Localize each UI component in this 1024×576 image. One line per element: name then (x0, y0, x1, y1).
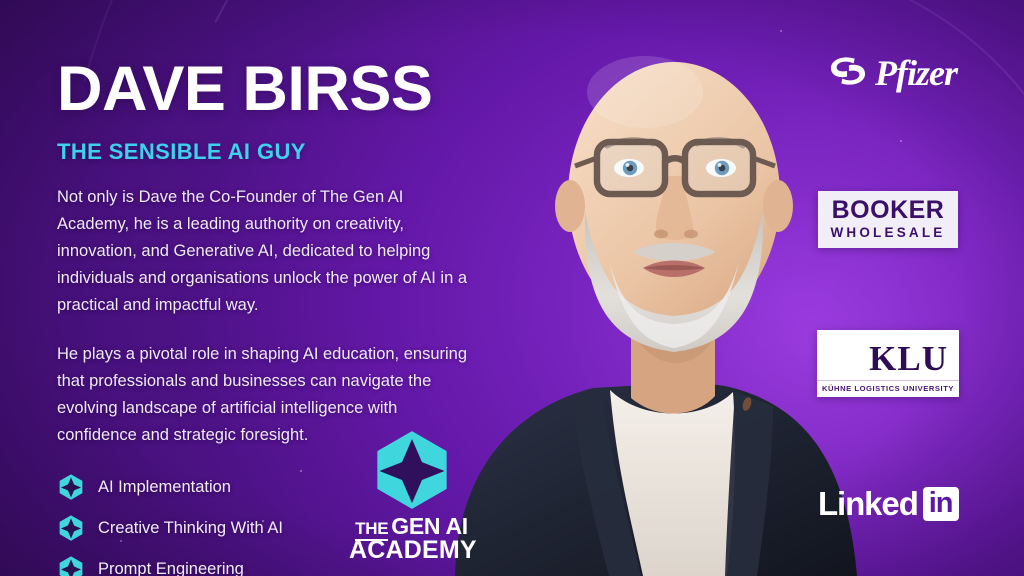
linkedin-badge-icon: in (923, 487, 959, 521)
booker-line-2: WHOLESALE (827, 226, 949, 240)
linkedin-wordmark: Linked (818, 485, 918, 523)
academy-wordmark: THEGEN AI ACADEMY (349, 515, 474, 564)
klu-mark: KLU (817, 330, 959, 380)
klu-wordmark: KLU (869, 339, 948, 378)
klu-subtitle: KÜHNE LOGISTICS UNIVERSITY (817, 380, 959, 397)
list-item-label: Creative Thinking With AI (98, 519, 283, 538)
hexagon-star-icon (57, 514, 85, 542)
gen-ai-academy-logo: THEGEN AI ACADEMY (349, 428, 474, 564)
logo-klu: KLU KÜHNE LOGISTICS UNIVERSITY (817, 330, 959, 397)
hexagon-star-icon (57, 473, 85, 501)
academy-genai-text: GEN AI (391, 513, 468, 539)
academy-academy-text: ACADEMY (349, 538, 474, 564)
hexagon-star-icon (57, 555, 85, 576)
pfizer-wordmark: Pfizer (875, 52, 957, 94)
academy-hexagon-star-icon (370, 428, 454, 512)
bio-paragraph-1: Not only is Dave the Co-Founder of The G… (57, 184, 477, 318)
list-item-label: AI Implementation (98, 478, 231, 497)
linkedin-in-text: in (929, 487, 953, 519)
list-item-label: Prompt Engineering (98, 560, 244, 576)
logo-pfizer: Pfizer (826, 52, 957, 94)
subtitle: THE SENSIBLE AI GUY (57, 139, 527, 165)
client-logo-rail: Pfizer BOOKER WHOLESALE KLU KÜHNE LOGIST… (804, 0, 1024, 576)
presentation-slide: DAVE BIRSS THE SENSIBLE AI GUY Not only … (0, 0, 1024, 576)
page-title: DAVE BIRSS (57, 58, 527, 121)
booker-line-1: BOOKER (827, 198, 949, 223)
logo-booker-wholesale: BOOKER WHOLESALE (818, 191, 958, 248)
pfizer-mark-icon (826, 53, 870, 94)
logo-linkedin: Linked in (818, 485, 959, 523)
